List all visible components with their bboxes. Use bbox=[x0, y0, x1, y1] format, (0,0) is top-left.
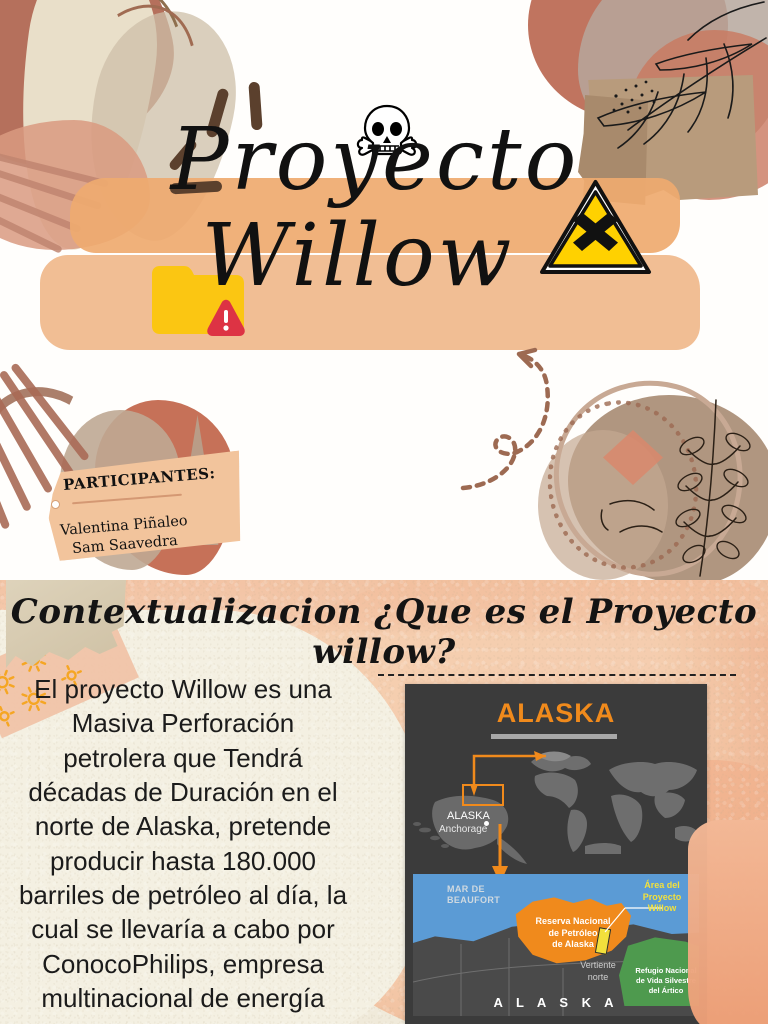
botanical-sprig-icon bbox=[568, 390, 768, 580]
sea-label: MAR DEBEAUFORT bbox=[447, 884, 500, 907]
curly-dashed-arrow-icon bbox=[455, 340, 575, 500]
title-line-2: Willow bbox=[0, 216, 768, 298]
anchorage-label: Anchorage bbox=[439, 824, 487, 835]
state-label: A L A S K A bbox=[413, 995, 699, 1010]
infographic-title-underline bbox=[491, 734, 617, 739]
slide-cover: Proyecto Willow PARTICIPANTES: Valentina… bbox=[0, 0, 768, 580]
north-slope-label: Vertientenorte bbox=[563, 960, 633, 983]
alaska-infographic: ALASKA bbox=[405, 684, 707, 1024]
section-heading: Contextualizacion ¿Que es el Proyecto wi… bbox=[0, 592, 768, 672]
infographic-title: ALASKA bbox=[405, 698, 707, 729]
section-body-text: El proyecto Willow es una Masiva Perfora… bbox=[18, 672, 348, 1015]
alaska-inset-highlight-box bbox=[462, 784, 504, 806]
dashed-divider bbox=[378, 674, 736, 676]
presentation-page: Proyecto Willow PARTICIPANTES: Valentina… bbox=[0, 0, 768, 1024]
willow-detail-map: MAR DEBEAUFORT Reserva Nacionalde Petról… bbox=[413, 874, 699, 1016]
world-map-icon bbox=[525, 746, 705, 856]
alaska-inset-label: ALASKA bbox=[447, 810, 490, 822]
decor-peach-right-edge bbox=[688, 820, 768, 1024]
cover-title: Proyecto Willow bbox=[0, 120, 768, 297]
title-line-1: Proyecto bbox=[0, 120, 768, 202]
